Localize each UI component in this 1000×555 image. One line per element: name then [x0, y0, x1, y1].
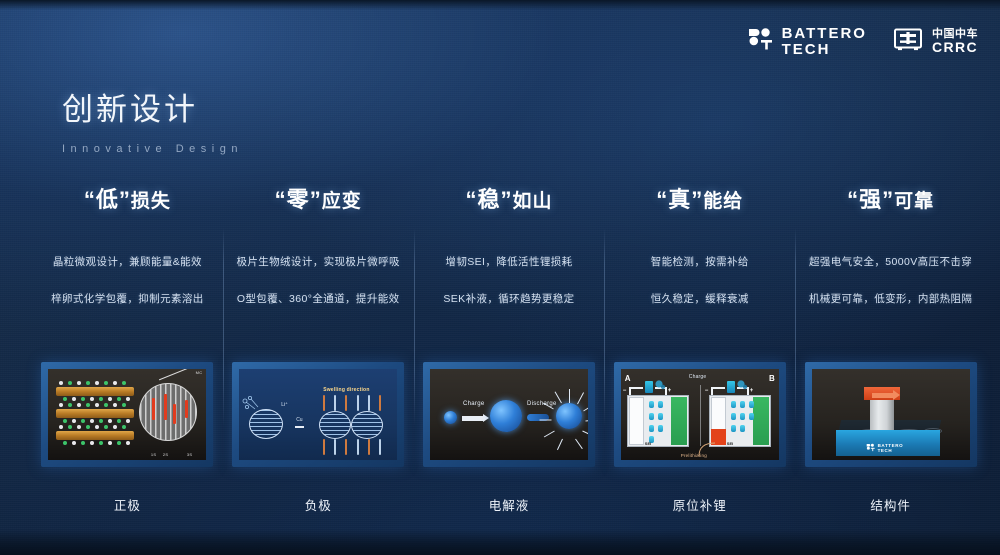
column-heading-1: “低”损失	[84, 182, 171, 214]
figure-label-sei-b: SEI	[727, 441, 733, 446]
small-particle-icon	[444, 411, 457, 424]
anode-particle-icon-r2	[351, 411, 383, 439]
battero-line1: BATTERO	[782, 26, 867, 41]
column-1-bullet-1: 晶粒微观设计，兼顾能量&能效	[53, 254, 202, 269]
terminal-plus-a: +	[668, 388, 672, 394]
column-3-quote-word: 稳	[477, 187, 500, 212]
column-heading-5: “强”可靠	[847, 182, 934, 214]
column-4-bullet-2: 恒久稳定，缓释衰减	[651, 291, 749, 306]
feature-columns: “低”损失 晶粒微观设计，兼顾能量&能效 梓卵式化学包覆，抑制元素溶出	[32, 182, 986, 512]
battero-wordmark: BATTERO TECH	[782, 26, 867, 57]
column-4-caption: 原位补锂	[604, 495, 795, 514]
feature-column-anode: “零”应变 极片生物绒设计，实现极片微呼吸 O型包覆、360°全通道，提升能效	[223, 182, 414, 512]
terminal-plus-b: +	[750, 388, 754, 394]
column-5-rest-word: 可靠	[894, 191, 934, 212]
terminal-minus-b: −	[705, 388, 709, 394]
figure-label-mc: MC	[196, 370, 203, 375]
column-5-bullet-1: 超强电气安全，5000V高压不击穿	[809, 254, 972, 269]
column-1-rest-word: 损失	[131, 191, 171, 212]
column-1-caption: 正极	[32, 495, 223, 514]
pressure-arrow-icon	[872, 393, 894, 398]
figure-label-a: A	[625, 374, 631, 383]
figure-label-charge-top: Charge	[689, 374, 707, 380]
cell-a: SEI	[627, 395, 689, 447]
feature-column-structural: “强”可靠 超强电气安全，5000V高压不击穿 机械更可靠，低变形，内部热阻隔	[795, 182, 986, 512]
column-3-rest-word: 如山	[512, 191, 552, 212]
column-3-bullet-1: 增韧SEI，降低活性锂损耗	[445, 254, 572, 269]
column-2-figure-frame: Li⁺ Cu Swelling direction	[232, 362, 404, 467]
column-1-bullets: 晶粒微观设计，兼顾能量&能效 梓卵式化学包覆，抑制元素溶出	[51, 254, 204, 306]
battery-symbol-a	[645, 381, 653, 393]
sei-particle-icon	[556, 403, 582, 429]
top-edge-fade	[0, 0, 1000, 10]
grain-circle-diagram-icon	[139, 383, 197, 441]
column-2-bullets: 极片生物绒设计，实现极片微呼吸 O型包覆、360°全通道，提升能效	[236, 254, 400, 306]
ion-glyph-a	[654, 379, 666, 391]
column-3-figure-frame: Charge Discharge	[423, 362, 595, 467]
module-logo-words: BATTERO TECH	[878, 443, 904, 453]
column-1-figure-frame: MC 1S 2S 3S	[41, 362, 213, 467]
column-3-bullets: 增韧SEI，降低活性锂损耗 SEK补液，循环趋势更稳定	[443, 254, 574, 306]
column-4-quote-word: 真	[668, 187, 691, 212]
figure-label-3s: 3S	[187, 452, 193, 457]
slide-canvas: BATTERO TECH 中国中车 CRRC 创新设	[0, 0, 1000, 555]
feature-column-prelithiation: “真”能给 智能检测，按需补给 恒久稳定，缓释衰减 A B Charge −	[604, 182, 795, 512]
figure-label-sei-a: SEI	[645, 441, 651, 446]
crrc-wordmark: 中国中车 CRRC	[932, 29, 978, 54]
page-subtitle: Innovative Design	[62, 143, 243, 155]
figure-label-prelithiating: Prelithiating	[681, 453, 707, 458]
terminal-minus-a: −	[623, 388, 627, 394]
column-2-bullet-2: O型包覆、360°全通道，提升能效	[237, 291, 400, 306]
figure-label-1s: 1S	[151, 452, 157, 457]
figure-label-b: B	[769, 374, 775, 383]
column-3-bullet-2: SEK补液，循环趋势更稳定	[443, 291, 574, 306]
column-4-bullet-1: 智能检测，按需补给	[651, 254, 749, 269]
column-3-figure-charge-discharge: Charge Discharge	[430, 369, 588, 460]
column-4-rest-word: 能给	[703, 191, 743, 212]
cell-divider	[700, 385, 701, 446]
battero-mark-icon	[747, 26, 773, 57]
figure-label-charge: Charge	[463, 401, 484, 407]
figure-label-swelling-direction: Swelling direction	[323, 387, 369, 393]
figure-label-cu: Cu	[296, 417, 302, 423]
battery-symbol-b	[727, 381, 735, 393]
figure-label-li-ion: Li⁺	[281, 402, 288, 408]
feature-column-cathode: “低”损失 晶粒微观设计，兼顾能量&能效 梓卵式化学包覆，抑制元素溶出	[32, 182, 223, 512]
page-title: 创新设计	[62, 84, 243, 129]
column-1-bullet-2: 梓卵式化学包覆，抑制元素溶出	[51, 291, 204, 306]
bottom-edge-fade	[0, 529, 1000, 555]
figure-label-2s: 2S	[163, 452, 169, 457]
ion-glyph-b	[736, 379, 748, 391]
battero-line2: TECH	[782, 42, 867, 57]
feature-column-electrolyte: “稳”如山 增韧SEI，降低活性锂损耗 SEK补液，循环趋势更稳定 Charge…	[414, 182, 605, 512]
ion-cluster-icon	[241, 395, 271, 419]
column-4-figure-frame: A B Charge − +	[614, 362, 786, 467]
crrc-mark-icon	[893, 26, 923, 57]
battero-tech-logo: BATTERO TECH	[747, 26, 867, 57]
expanded-particle-icon	[490, 400, 522, 432]
column-heading-2: “零”应变	[275, 182, 362, 214]
column-2-caption: 负极	[223, 495, 414, 514]
column-heading-3: “稳”如山	[465, 182, 552, 214]
column-heading-4: “真”能给	[656, 182, 743, 214]
column-4-bullets: 智能检测，按需补给 恒久稳定，缓释衰减	[651, 254, 749, 306]
column-5-caption: 结构件	[795, 495, 986, 514]
lattice-graphic-icon	[56, 381, 134, 453]
column-5-bullet-2: 机械更可靠，低变形，内部热阻隔	[809, 291, 973, 306]
column-5-quote-word: 强	[859, 187, 882, 212]
crrc-logo: 中国中车 CRRC	[893, 26, 978, 57]
column-4-figure-prelithiation-cells: A B Charge − +	[621, 369, 779, 460]
cylinder-body-icon	[870, 396, 894, 434]
column-1-figure-crystal-lattice: MC 1S 2S 3S	[48, 369, 206, 460]
charge-arrow-icon	[462, 416, 484, 421]
logo-bar: BATTERO TECH 中国中车 CRRC	[747, 26, 978, 57]
figure-label-discharge: Discharge	[527, 401, 557, 407]
column-2-figure-swelling: Li⁺ Cu Swelling direction	[239, 369, 397, 460]
anode-particle-icon-r1	[319, 411, 351, 439]
column-5-bullets: 超强电气安全，5000V高压不击穿 机械更可靠，低变形，内部热阻隔	[809, 254, 973, 306]
title-block: 创新设计 Innovative Design	[62, 84, 243, 155]
column-5-figure-battery-module: BATTERO TECH	[812, 369, 970, 460]
crrc-english-name: CRRC	[932, 40, 978, 54]
column-2-quote-word: 零	[287, 187, 310, 212]
module-battero-logo: BATTERO TECH	[866, 443, 904, 453]
column-3-caption: 电解液	[414, 495, 605, 514]
module-logo-line2: TECH	[878, 448, 904, 453]
module-battero-mark-icon	[866, 443, 875, 452]
column-2-rest-word: 应变	[322, 191, 362, 212]
column-2-bullet-1: 极片生物绒设计，实现极片微呼吸	[236, 254, 400, 269]
column-5-figure-frame: BATTERO TECH	[805, 362, 977, 467]
cell-b: SEI	[709, 395, 771, 447]
column-1-quote-word: 低	[96, 187, 119, 212]
cu-underline	[295, 426, 304, 428]
